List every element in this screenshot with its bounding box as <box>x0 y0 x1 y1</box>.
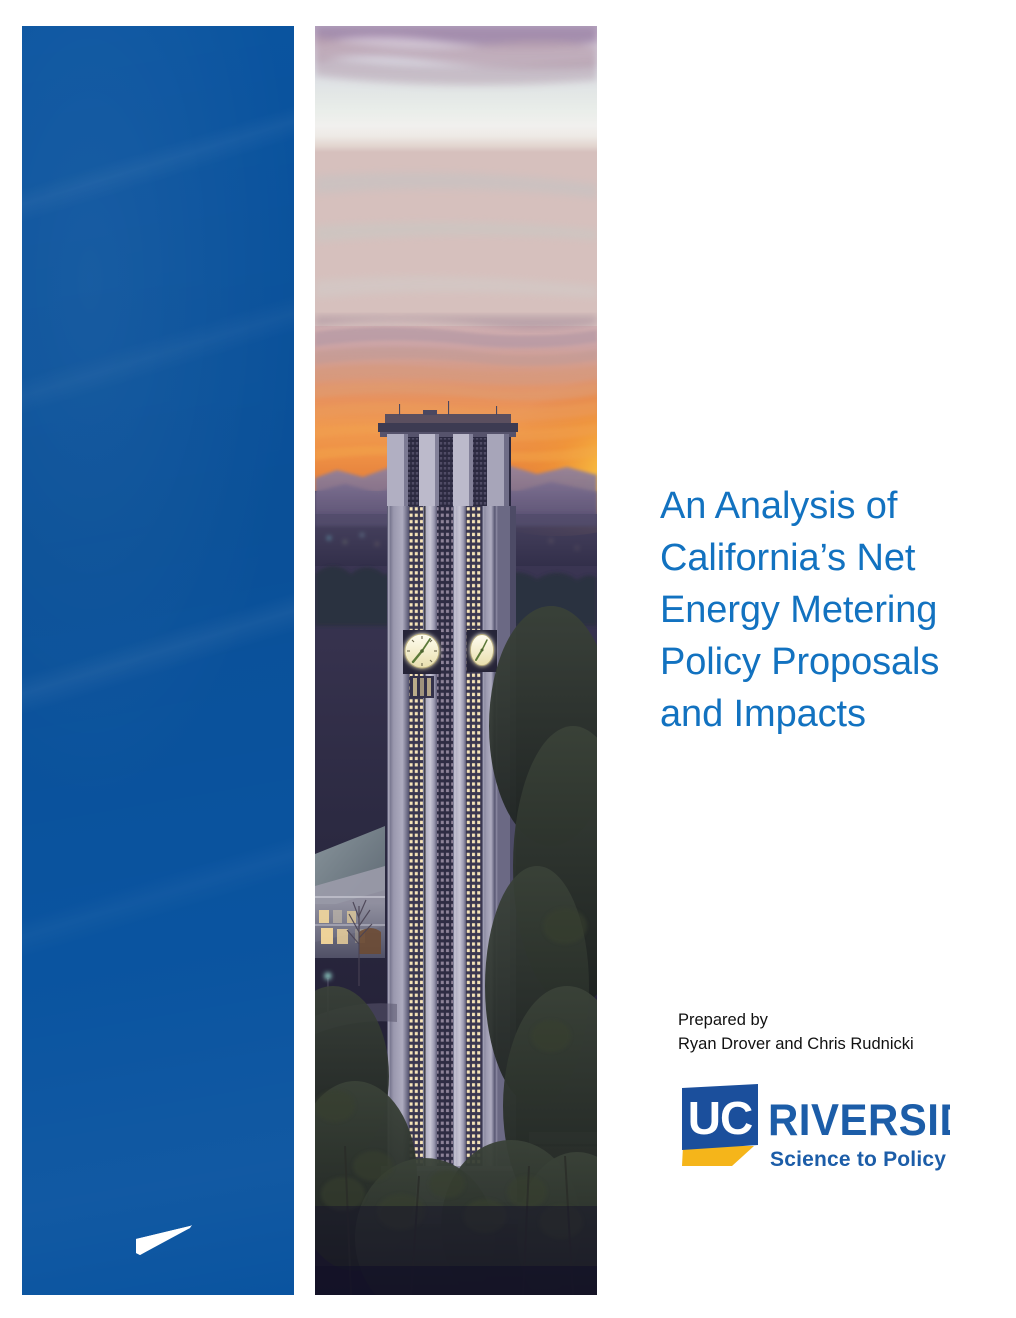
prepared-by-label: Prepared by <box>678 1009 978 1033</box>
logo-wordmark-text: RIVERSIDE <box>768 1096 950 1145</box>
prepared-by-block: Prepared by Ryan Drover and Chris Rudnic… <box>678 1009 978 1056</box>
author-names: Ryan Drover and Chris Rudnicki <box>678 1033 978 1057</box>
cover-text-column: An Analysis of California’s Net Energy M… <box>660 0 980 1318</box>
blue-band-texture <box>22 26 294 1295</box>
uc-riverside-logo: UC RIVERSIDE Science to Policy <box>670 1082 950 1178</box>
page-title: An Analysis of California’s Net Energy M… <box>660 480 970 740</box>
logo-uc-text: UC <box>688 1092 752 1144</box>
decorative-blue-band <box>22 26 294 1295</box>
logo-tagline-text: Science to Policy <box>770 1148 946 1171</box>
uc-riverside-logo-icon: UC RIVERSIDE Science to Policy <box>670 1082 950 1178</box>
bell-tower-sunset-illustration <box>315 26 597 1295</box>
white-wedge-arrow-icon <box>136 1222 192 1256</box>
cover-photo <box>315 26 597 1295</box>
